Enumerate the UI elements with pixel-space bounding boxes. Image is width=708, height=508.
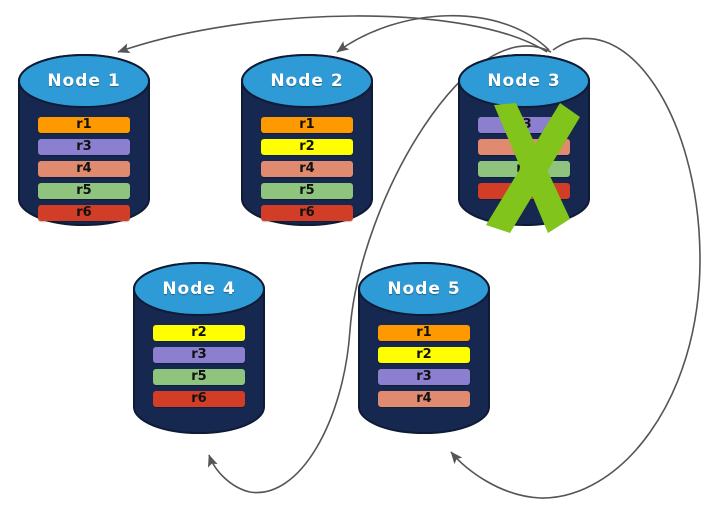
- replica-bar[interactable]: r6: [261, 205, 353, 221]
- replica-bar[interactable]: r4: [261, 161, 353, 177]
- replica-bar[interactable]: r1: [261, 117, 353, 133]
- replica-bar[interactable]: r4: [38, 161, 130, 177]
- replica-bar[interactable]: r5: [38, 183, 130, 199]
- replica-bar[interactable]: r6: [38, 205, 130, 221]
- database-node-2[interactable]: Node 2r1r2r4r5r6: [241, 55, 373, 225]
- cylinder-top-disc: [359, 263, 489, 315]
- replica-bar[interactable]: r5: [153, 369, 245, 385]
- replica-bar[interactable]: r3: [378, 369, 470, 385]
- database-node-1[interactable]: Node 1r1r3r4r5r6: [18, 55, 150, 225]
- replica-bar[interactable]: r1: [378, 325, 470, 341]
- database-node-4[interactable]: Node 4r2r3r5r6: [133, 263, 265, 433]
- replica-bar[interactable]: r5: [478, 161, 570, 177]
- cylinder-top-disc: [459, 55, 589, 107]
- replica-bar-list: r2r3r5r6: [133, 325, 265, 413]
- replica-bar-list: r1r2r3r4: [358, 325, 490, 413]
- arrow-node3-to-node1: [118, 16, 547, 52]
- cylinder-top-disc: [134, 263, 264, 315]
- replica-bar-list: r1r2r4r5r6: [241, 117, 373, 227]
- database-node-3[interactable]: Node 3r3r4r5r6: [458, 55, 590, 225]
- replica-bar[interactable]: r3: [478, 117, 570, 133]
- cylinder-top-disc: [19, 55, 149, 107]
- replica-bar[interactable]: r5: [261, 183, 353, 199]
- arrow-node3-to-node2: [337, 16, 549, 52]
- replica-bar[interactable]: r4: [378, 391, 470, 407]
- replica-bar[interactable]: r1: [38, 117, 130, 133]
- database-node-5[interactable]: Node 5r1r2r3r4: [358, 263, 490, 433]
- replica-bar[interactable]: r6: [153, 391, 245, 407]
- replica-bar[interactable]: r3: [38, 139, 130, 155]
- replica-bar[interactable]: r2: [261, 139, 353, 155]
- replica-bar-list: r1r3r4r5r6: [18, 117, 150, 227]
- cylinder-top-disc: [242, 55, 372, 107]
- diagram-canvas: Node 1r1r3r4r5r6Node 2r1r2r4r5r6Node 3r3…: [0, 0, 708, 508]
- replica-bar[interactable]: r6: [478, 183, 570, 199]
- replica-bar[interactable]: r2: [378, 347, 470, 363]
- replica-bar-list: r3r4r5r6: [458, 117, 590, 205]
- replica-bar[interactable]: r2: [153, 325, 245, 341]
- replica-bar[interactable]: r4: [478, 139, 570, 155]
- replica-bar[interactable]: r3: [153, 347, 245, 363]
